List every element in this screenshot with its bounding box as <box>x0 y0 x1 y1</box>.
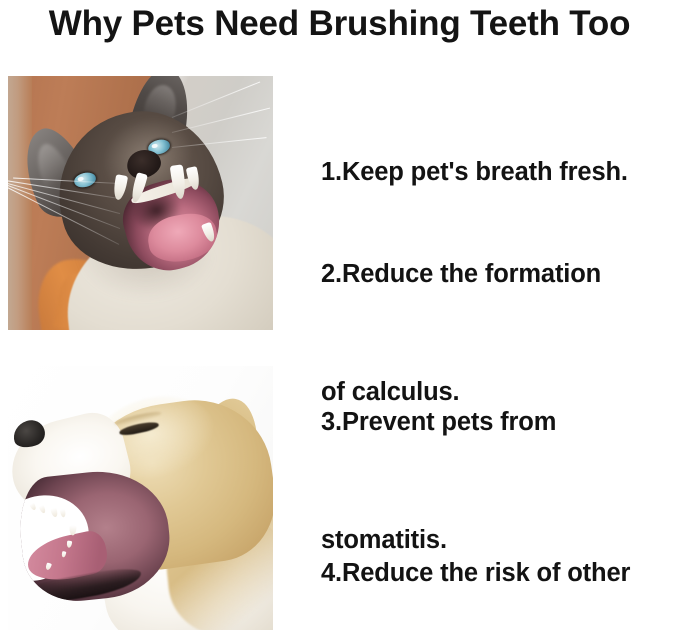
list-item-line: 2.Reduce the formation <box>321 258 677 291</box>
page-title: Why Pets Need Brushing Teeth Too <box>0 0 679 64</box>
list-item: 4.Reduce the risk of other diseases caus… <box>321 491 677 630</box>
list-item-line: 3.Prevent pets from <box>321 406 677 439</box>
benefits-list: 1.Keep pet's breath fresh. 2.Reduce the … <box>321 76 677 630</box>
cat-photo <box>8 76 273 330</box>
dog-illustration <box>8 366 273 630</box>
infographic-page: Why Pets Need Brushing Teeth Too <box>0 0 679 630</box>
list-item-line: 4.Reduce the risk of other <box>321 557 677 590</box>
cat-illustration <box>8 76 273 330</box>
dog-photo <box>8 366 273 630</box>
cat-background-edge <box>8 76 32 330</box>
list-item-line: 1.Keep pet's breath fresh. <box>321 156 677 189</box>
